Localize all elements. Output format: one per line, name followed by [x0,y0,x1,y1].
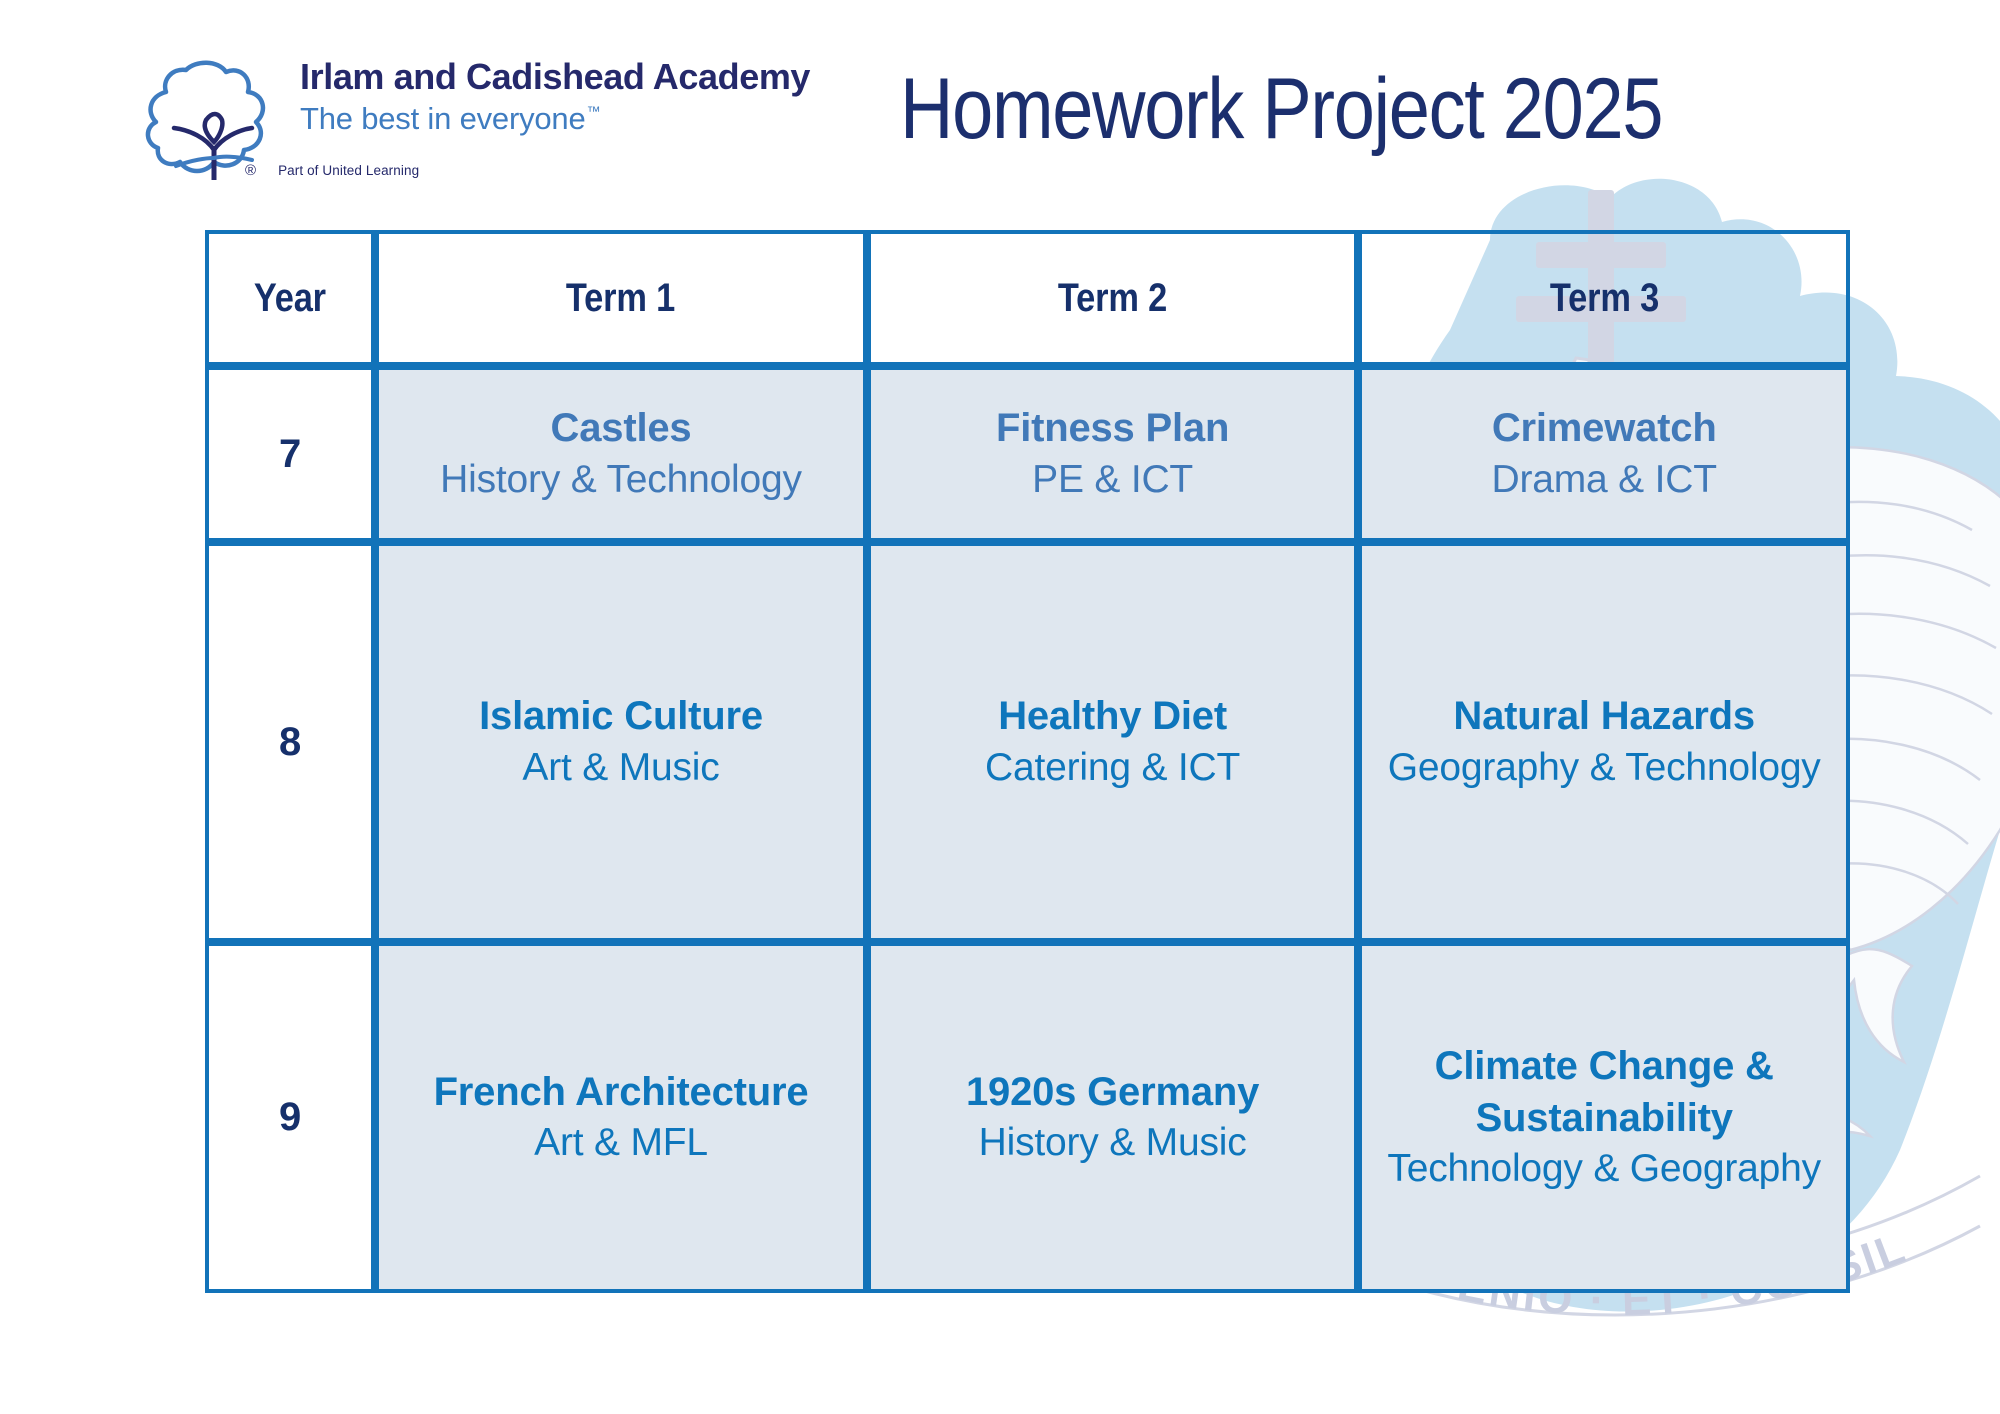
topic-subjects: Catering & ICT [871,743,1355,793]
registered-mark-icon: ® [245,162,256,179]
topic-subjects: Drama & ICT [1362,455,1846,505]
cell-year7-term2: Fitness Plan PE & ICT [867,366,1359,542]
cell-year9-term2: 1920s Germany History & Music [867,942,1359,1293]
topic-subjects: Geography & Technology [1362,743,1846,793]
tree-person-logo-icon [140,50,280,180]
school-logo: Irlam and Cadishead Academy The best in … [140,50,820,190]
page-title: Homework Project 2025 [900,60,1662,159]
topic-title: 1920s Germany [871,1067,1355,1118]
page-header: Irlam and Cadishead Academy The best in … [0,0,2000,200]
homework-project-table: Year Term 1 Term 2 Term 3 7 Castles Hist… [205,230,1850,1293]
topic-subjects: History & Technology [379,455,863,505]
year-label: 8 [205,542,375,942]
table-row: 7 Castles History & Technology Fitness P… [205,366,1850,542]
column-header-term3-label: Term 3 [1550,276,1659,321]
topic-subjects: Technology & Geography [1362,1144,1846,1194]
column-header-term1-label: Term 1 [566,276,675,321]
year-label: 7 [205,366,375,542]
topic-title: Natural Hazards [1362,691,1846,742]
cell-year8-term1: Islamic Culture Art & Music [375,542,867,942]
topic-title: Crimewatch [1362,403,1846,454]
table-row: 8 Islamic Culture Art & Music Healthy Di… [205,542,1850,942]
column-header-year-label: Year [254,276,326,321]
column-header-term1: Term 1 [375,230,867,366]
trademark-symbol: ™ [587,103,601,119]
year-label: 9 [205,942,375,1293]
cell-year8-term3: Natural Hazards Geography & Technology [1358,542,1850,942]
column-header-year: Year [205,230,375,366]
school-tagline: The best in everyone [300,101,586,136]
cell-year7-term3: Crimewatch Drama & ICT [1358,366,1850,542]
column-header-term2-label: Term 2 [1058,276,1167,321]
topic-subjects: History & Music [871,1118,1355,1168]
column-header-term3: Term 3 [1358,230,1850,366]
topic-title: Fitness Plan [871,403,1355,454]
cell-year9-term1: French Architecture Art & MFL [375,942,867,1293]
topic-title: Islamic Culture [379,691,863,742]
column-header-term2: Term 2 [867,230,1359,366]
united-learning-line: Part of United Learning [278,163,419,178]
cell-year8-term2: Healthy Diet Catering & ICT [867,542,1359,942]
table-header-row: Year Term 1 Term 2 Term 3 [205,230,1850,366]
table-row: 9 French Architecture Art & MFL 1920s Ge… [205,942,1850,1293]
topic-subjects: Art & MFL [379,1118,863,1168]
topic-title: Castles [379,403,863,454]
topic-title: French Architecture [379,1067,863,1118]
cell-year9-term3: Climate Change & Sustainability Technolo… [1358,942,1850,1293]
topic-subjects: Art & Music [379,743,863,793]
topic-subjects: PE & ICT [871,455,1355,505]
school-name: Irlam and Cadishead Academy [300,58,820,97]
topic-title: Climate Change & Sustainability [1362,1041,1846,1143]
cell-year7-term1: Castles History & Technology [375,366,867,542]
topic-title: Healthy Diet [871,691,1355,742]
